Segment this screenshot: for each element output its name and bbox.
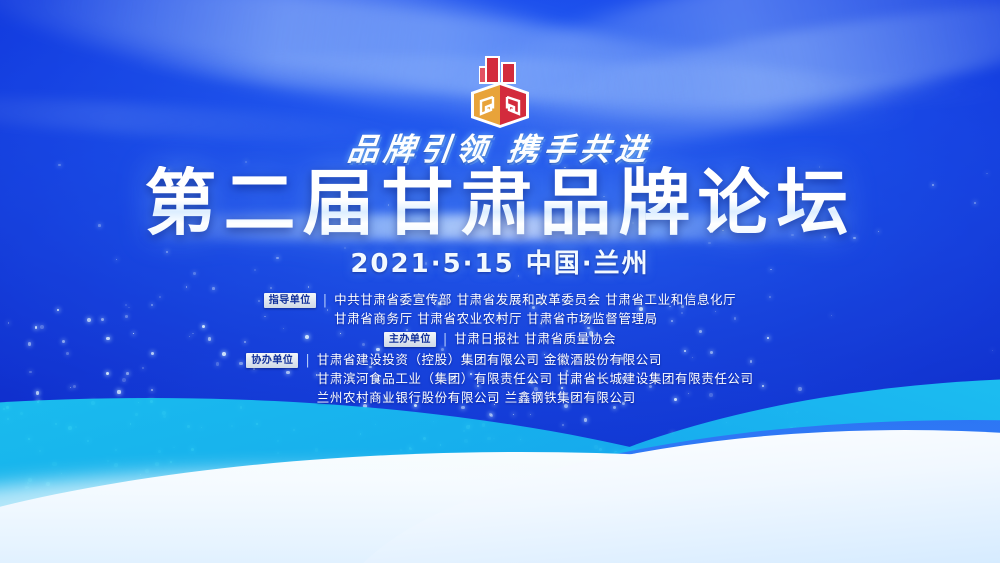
logo-container bbox=[0, 52, 1000, 128]
organizer-badge: 指导单位 bbox=[264, 293, 316, 308]
particle-dot bbox=[409, 448, 412, 451]
particle-dot bbox=[264, 476, 268, 480]
ganpin-cube-logo bbox=[457, 52, 543, 128]
particle-dot bbox=[308, 286, 310, 288]
particle-dot bbox=[795, 426, 796, 427]
particle-dot bbox=[784, 431, 787, 434]
particle-dot bbox=[315, 448, 318, 451]
particle-dot bbox=[466, 425, 470, 429]
particle-dot bbox=[584, 418, 588, 422]
particle-dot bbox=[138, 489, 142, 493]
particle-dot bbox=[433, 421, 434, 422]
organizer-line: 中共甘肃省委宣传部 甘肃省发展和改革委员会 甘肃省工业和信息化厅 bbox=[334, 292, 736, 308]
particle-dot bbox=[716, 463, 718, 465]
particle-dot bbox=[790, 427, 792, 429]
particle-dot bbox=[709, 477, 711, 479]
particle-dot bbox=[567, 485, 570, 488]
particle-dot bbox=[20, 412, 23, 415]
particle-dot bbox=[594, 445, 598, 449]
particle-dot bbox=[482, 423, 486, 427]
particle-dot bbox=[562, 424, 564, 426]
organizer-line: 甘肃日报社 甘肃省质量协会 bbox=[454, 331, 616, 347]
badge-separator: | bbox=[305, 353, 309, 369]
particle-dot bbox=[440, 444, 442, 446]
particle-dot bbox=[530, 414, 531, 415]
particle-dot bbox=[477, 485, 480, 488]
organizer-line: 甘肃省建设投资（控股）集团有限公司 金徽酒股份有限公司 bbox=[317, 352, 754, 368]
particle-dot bbox=[25, 486, 28, 489]
organizer-lines: 甘肃省建设投资（控股）集团有限公司 金徽酒股份有限公司甘肃滨河食品工业（集团）有… bbox=[317, 352, 754, 406]
particle-dot bbox=[614, 451, 618, 455]
particle-dot bbox=[635, 483, 637, 485]
particle-dot bbox=[490, 414, 493, 417]
particle-dot bbox=[686, 465, 690, 469]
particle-dot bbox=[802, 486, 804, 488]
particle-dot bbox=[277, 452, 279, 454]
particle-dot bbox=[75, 426, 77, 428]
particle-dot bbox=[463, 430, 464, 431]
particle-dot bbox=[701, 483, 705, 487]
particle-dot bbox=[155, 462, 159, 466]
particle-dot bbox=[256, 423, 258, 425]
particle-dot bbox=[186, 286, 188, 288]
organizer-lines: 甘肃日报社 甘肃省质量协会 bbox=[454, 331, 616, 347]
particle-dot bbox=[672, 433, 674, 435]
particle-dot bbox=[498, 471, 501, 474]
particle-dot bbox=[3, 408, 5, 410]
particle-dot bbox=[300, 469, 302, 471]
particle-dot bbox=[258, 471, 261, 474]
particle-dot bbox=[400, 449, 402, 451]
organizer-line: 甘肃滨河食品工业（集团）有限责任公司 甘肃省长城建设集团有限责任公司 bbox=[317, 371, 754, 387]
particle-dot bbox=[240, 406, 242, 408]
particle-dot bbox=[277, 440, 279, 442]
particle-dot bbox=[28, 478, 32, 482]
particle-dot bbox=[774, 464, 778, 468]
particle-dot bbox=[389, 474, 392, 477]
particle-dot bbox=[783, 466, 787, 470]
date-location: 2021·5·15 中国·兰州 bbox=[0, 243, 1000, 280]
particle-dot bbox=[52, 462, 56, 466]
particle-dot bbox=[400, 486, 402, 488]
particle-dot bbox=[173, 447, 175, 449]
particle-dot bbox=[117, 489, 120, 492]
particle-dot bbox=[613, 406, 616, 409]
particle-dot bbox=[726, 422, 727, 423]
particle-dot bbox=[513, 414, 514, 415]
particle-dot bbox=[818, 482, 819, 483]
particle-dot bbox=[796, 411, 798, 413]
particle-dot bbox=[87, 440, 89, 442]
particle-dot bbox=[212, 287, 215, 290]
particle-dot bbox=[231, 425, 234, 428]
particle-dot bbox=[27, 482, 29, 484]
particle-dot bbox=[342, 458, 344, 460]
particle-dot bbox=[242, 474, 246, 478]
particle-dot bbox=[28, 438, 30, 440]
particle-dot bbox=[145, 469, 149, 473]
particle-dot bbox=[413, 489, 415, 491]
particle-dot bbox=[559, 475, 561, 477]
particle-dot bbox=[664, 448, 668, 452]
organizer-badge: 主办单位 bbox=[384, 332, 436, 347]
particle-dot bbox=[68, 426, 72, 430]
particle-dot bbox=[39, 450, 41, 452]
particle-dot bbox=[758, 458, 761, 461]
particle-dot bbox=[163, 415, 166, 418]
particle-dot bbox=[28, 487, 29, 488]
particle-dot bbox=[473, 469, 474, 470]
particle-dot bbox=[757, 445, 761, 449]
particle-dot bbox=[692, 444, 694, 446]
particle-dot bbox=[397, 463, 399, 465]
particle-dot bbox=[135, 413, 138, 416]
particle-dot bbox=[170, 461, 172, 463]
organizer-line: 兰州农村商业银行股份有限公司 兰鑫钢铁集团有限公司 bbox=[317, 390, 754, 406]
particle-dot bbox=[599, 448, 602, 451]
particle-dot bbox=[718, 438, 721, 441]
particle-dot bbox=[783, 476, 786, 479]
particle-dot bbox=[464, 467, 465, 468]
particle-dot bbox=[7, 418, 10, 421]
particle-dot bbox=[187, 425, 190, 428]
particle-dot bbox=[487, 437, 490, 440]
particle-dot bbox=[637, 473, 641, 477]
particle-dot bbox=[564, 465, 566, 467]
particle-dot bbox=[107, 460, 109, 462]
particle-dot bbox=[620, 467, 623, 470]
particle-dot bbox=[317, 488, 321, 492]
particle-dot bbox=[787, 412, 789, 414]
particle-dot bbox=[303, 462, 306, 465]
organizer-group: 协办单位|甘肃省建设投资（控股）集团有限公司 金徽酒股份有限公司甘肃滨河食品工业… bbox=[246, 352, 753, 406]
particle-dot bbox=[114, 463, 118, 467]
particle-dot bbox=[61, 473, 62, 474]
particle-dot bbox=[423, 437, 426, 440]
page-title: 第二届甘肃品牌论坛 bbox=[0, 166, 1000, 240]
particle-dot bbox=[255, 481, 257, 483]
particle-dot bbox=[375, 424, 376, 425]
particle-dot bbox=[263, 465, 266, 468]
particle-dot bbox=[719, 477, 720, 478]
particle-dot bbox=[6, 406, 9, 409]
particle-dot bbox=[312, 462, 314, 464]
particle-dot bbox=[493, 438, 495, 440]
organizer-line: 甘肃省商务厅 甘肃省农业农村厅 甘肃省市场监督管理局 bbox=[334, 311, 736, 327]
particle-dot bbox=[140, 474, 141, 475]
particle-dot bbox=[494, 469, 497, 472]
particle-dot bbox=[40, 489, 41, 490]
particle-dot bbox=[55, 423, 57, 425]
particle-dot bbox=[191, 448, 194, 451]
organizer-group: 指导单位|中共甘肃省委宣传部 甘肃省发展和改革委员会 甘肃省工业和信息化厅甘肃省… bbox=[264, 292, 737, 327]
badge-separator: | bbox=[323, 293, 327, 309]
particle-dot bbox=[464, 439, 468, 443]
organizer-group: 主办单位|甘肃日报社 甘肃省质量协会 bbox=[384, 331, 616, 348]
particle-dot bbox=[394, 478, 395, 479]
particle-dot bbox=[814, 464, 817, 467]
particle-dot bbox=[328, 462, 331, 465]
particle-dot bbox=[520, 439, 521, 440]
particle-dot bbox=[236, 471, 240, 475]
particle-dot bbox=[293, 429, 295, 431]
particle-dot bbox=[201, 427, 202, 428]
particle-dot bbox=[270, 287, 272, 289]
poster-canvas: 品牌引领 携手共进 第二届甘肃品牌论坛 2021·5·15 中国·兰州 指导单位… bbox=[0, 0, 1000, 563]
particle-dot bbox=[130, 423, 132, 425]
particle-dot bbox=[389, 469, 391, 471]
badge-separator: | bbox=[443, 332, 447, 348]
particle-dot bbox=[792, 482, 794, 484]
organizer-lines: 中共甘肃省委宣传部 甘肃省发展和改革委员会 甘肃省工业和信息化厅甘肃省商务厅 甘… bbox=[334, 292, 736, 327]
organizer-badge: 协办单位 bbox=[246, 353, 298, 368]
particle-dot bbox=[676, 480, 679, 483]
particle-dot bbox=[461, 406, 464, 409]
particle-dot bbox=[158, 450, 161, 453]
particle-dot bbox=[46, 482, 50, 486]
organizer-list: 指导单位|中共甘肃省委宣传部 甘肃省发展和改革委员会 甘肃省工业和信息化厅甘肃省… bbox=[0, 292, 1000, 406]
particle-dot bbox=[753, 488, 757, 492]
particle-dot bbox=[714, 465, 717, 468]
particle-dot bbox=[115, 449, 117, 451]
particle-dot bbox=[99, 481, 101, 483]
particle-dot bbox=[360, 433, 362, 435]
particle-dot bbox=[648, 487, 652, 491]
